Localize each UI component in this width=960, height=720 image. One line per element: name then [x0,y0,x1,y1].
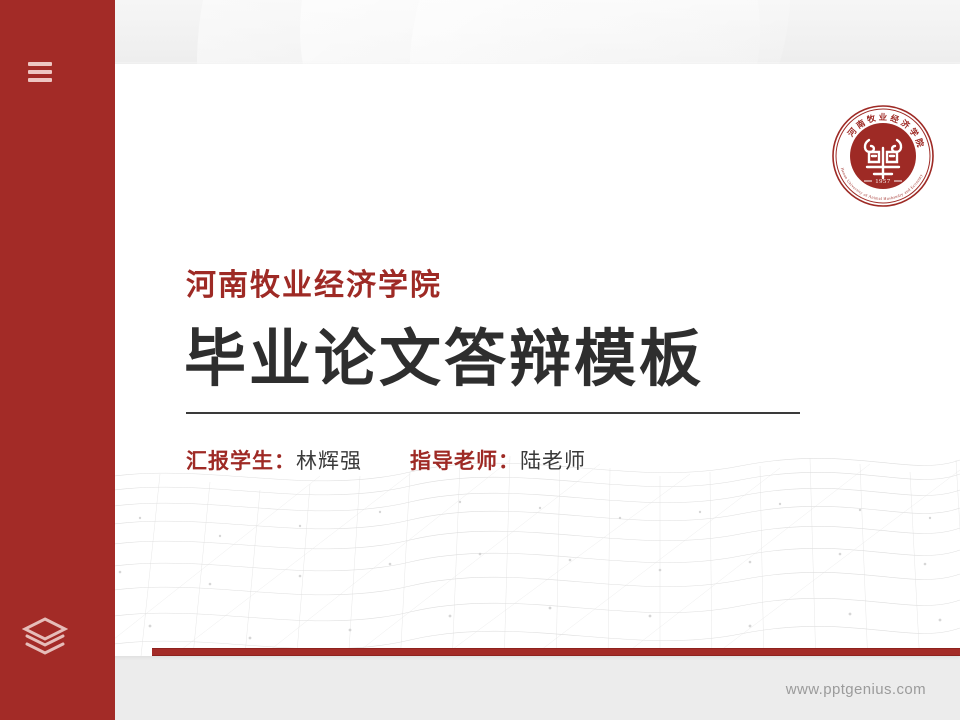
presentation-slide: 河南牧业经济学院 Henan University of Animal Husb… [0,0,960,720]
school-name: 河南牧业经济学院 [186,260,442,304]
hamburger-bar-3 [28,78,52,82]
hamburger-bar-1 [28,62,52,66]
presenter-info-row: 汇报学生：林辉强 指导老师：陆老师 [186,445,586,475]
slide-content-card: 河南牧业经济学院 Henan University of Animal Husb… [80,64,960,656]
hamburger-bar-2 [28,70,52,74]
layers-stack-icon[interactable] [22,616,68,658]
bottom-red-rule [152,648,960,656]
left-red-sidebar [0,0,115,720]
page-title: 毕业论文答辩模板 [184,308,704,398]
student-name: 林辉强 [296,445,362,475]
wireframe-mesh-decoration [80,396,960,656]
footer-website-url[interactable]: www.pptgenius.com [786,681,926,698]
title-divider [186,412,800,414]
advisor-name: 陆老师 [520,445,586,475]
logo-founded-year: 1957 [875,178,891,185]
advisor-label: 指导老师： [410,445,520,475]
university-logo: 河南牧业经济学院 Henan University of Animal Husb… [831,104,935,208]
student-label: 汇报学生： [186,445,296,475]
hamburger-menu-icon[interactable] [28,62,52,82]
